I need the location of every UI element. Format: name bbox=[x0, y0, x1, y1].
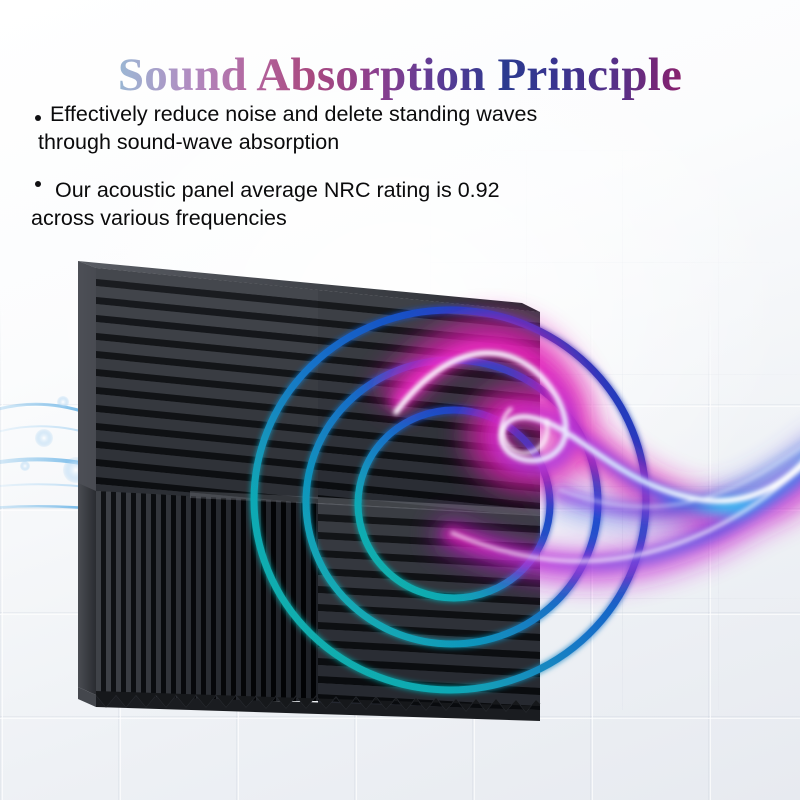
bullet-dot-icon bbox=[35, 115, 41, 121]
magenta-light-streak bbox=[400, 280, 800, 680]
list-item: Effectively reduce noise and delete stan… bbox=[33, 100, 733, 156]
bullet-2-line-2: across various frequencies bbox=[33, 204, 733, 232]
bullet-1-line-2: through sound-wave absorption bbox=[33, 128, 733, 156]
bullet-dot-icon bbox=[35, 181, 41, 187]
bullet-1-line-1: Effectively reduce noise and delete stan… bbox=[50, 102, 537, 126]
list-item: Our acoustic panel average NRC rating is… bbox=[33, 176, 733, 232]
slide-canvas: Sound Absorption Principle Effectively r… bbox=[0, 0, 800, 800]
bullet-2-line-1: Our acoustic panel average NRC rating is… bbox=[55, 178, 500, 202]
page-title: Sound Absorption Principle bbox=[0, 48, 800, 102]
bullet-list: Effectively reduce noise and delete stan… bbox=[33, 100, 733, 232]
